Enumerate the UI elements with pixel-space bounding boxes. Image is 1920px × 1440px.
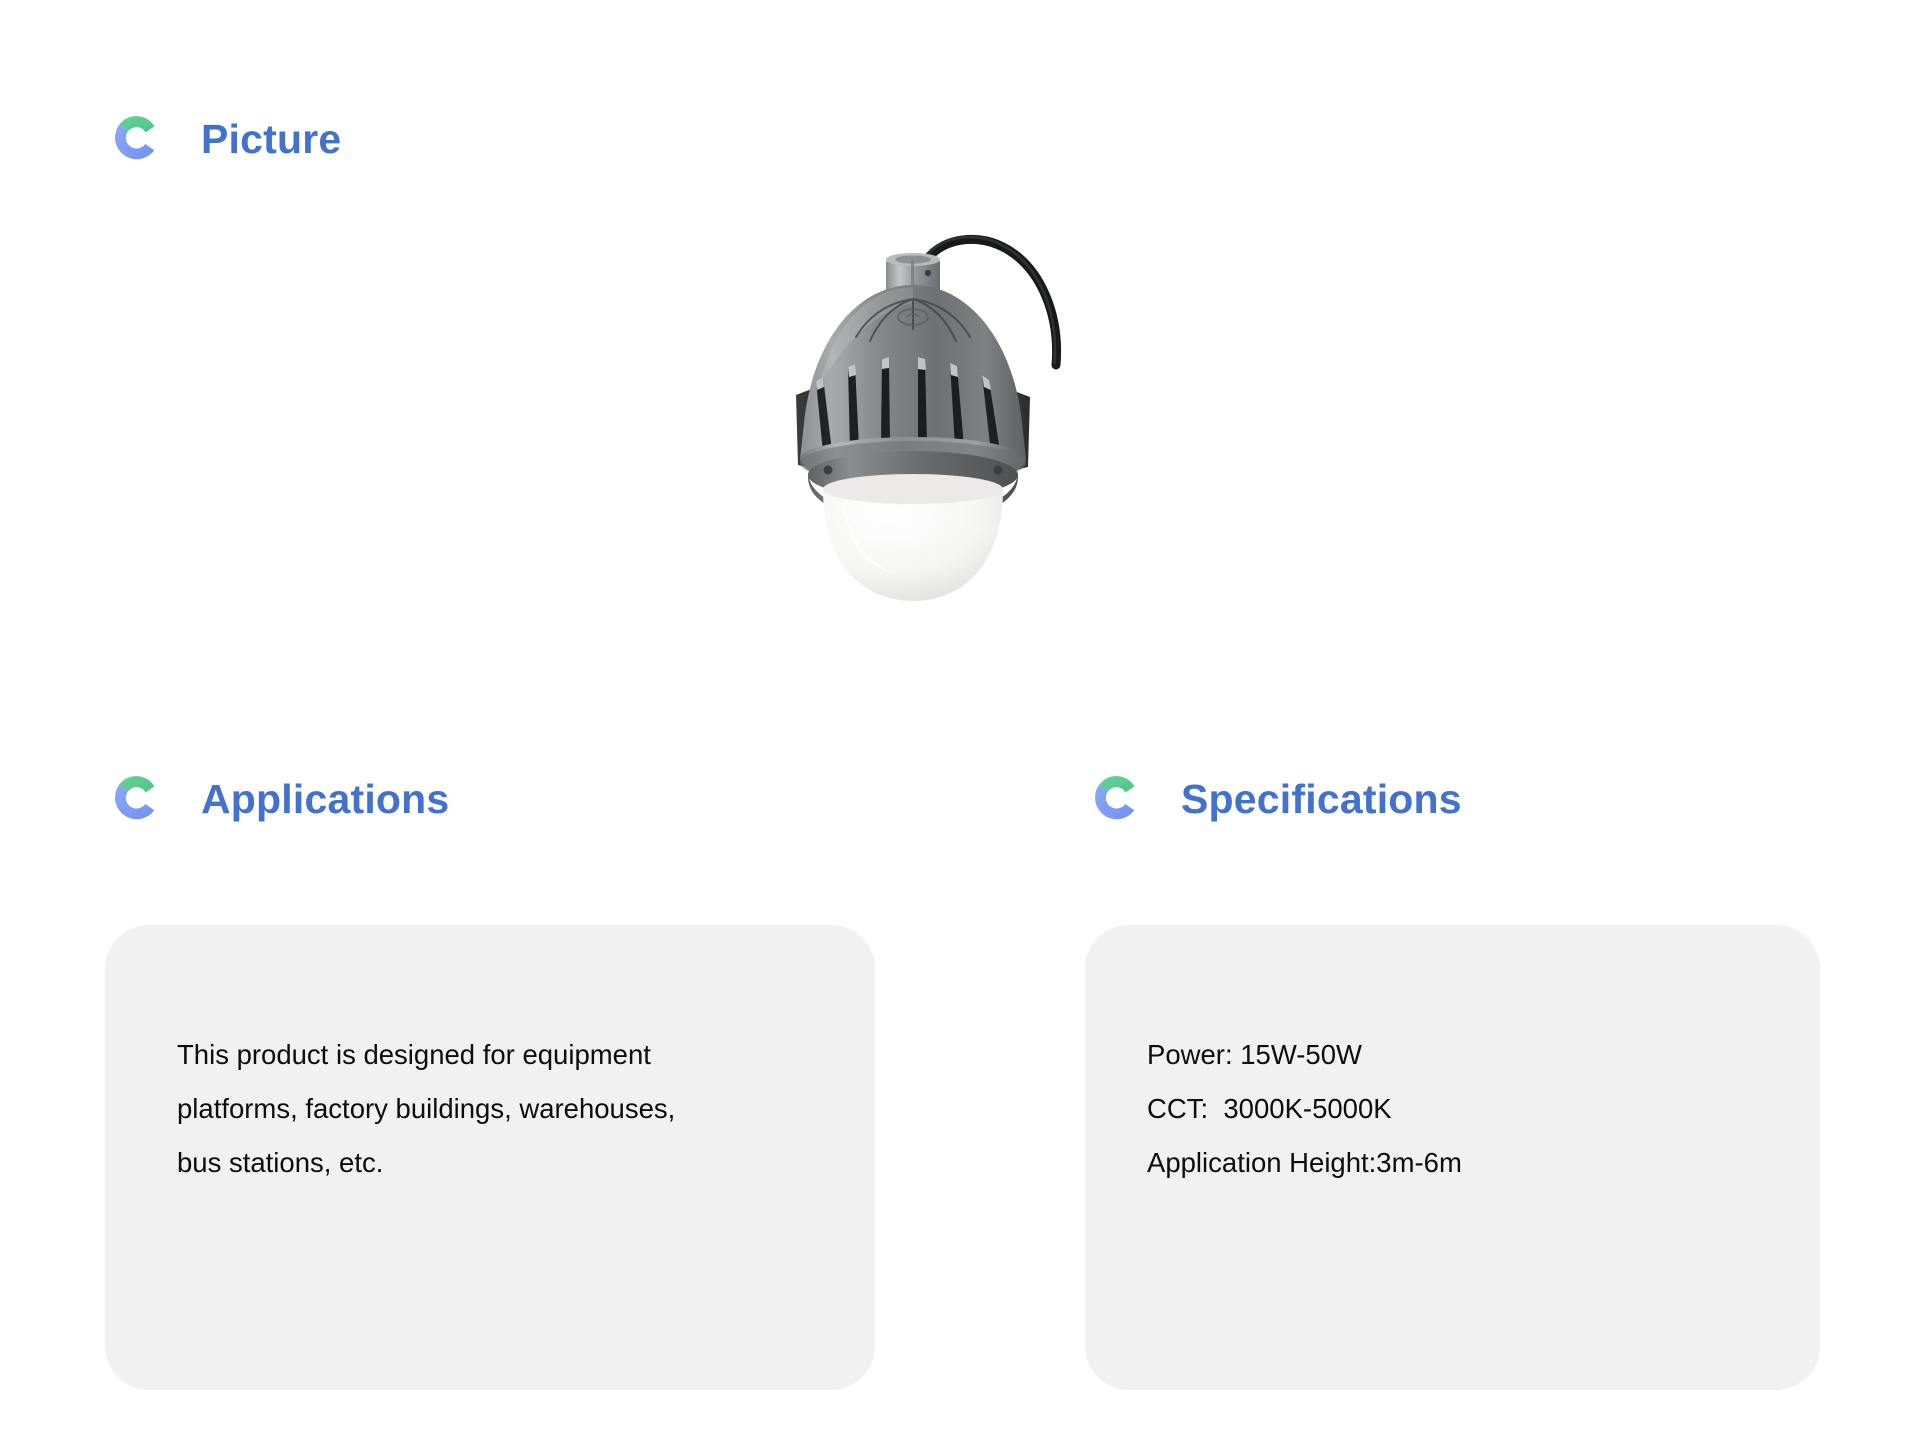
section-title-specifications: Specifications xyxy=(1181,779,1462,820)
spec-line-power: Power: 15W-50W xyxy=(1147,1028,1780,1082)
spec-line-cct: CCT: 3000K-5000K xyxy=(1147,1082,1780,1136)
spec-line-height: Application Height:3m-6m xyxy=(1147,1136,1780,1190)
applications-line: This product is designed for equipment xyxy=(177,1028,835,1082)
specifications-card: Power: 15W-50W CCT: 3000K-5000K Applicat… xyxy=(1085,925,1820,1390)
applications-text: This product is designed for equipment p… xyxy=(177,1028,835,1190)
applications-line: bus stations, etc. xyxy=(177,1136,835,1190)
section-header-specifications: Specifications xyxy=(1085,768,1462,830)
product-image xyxy=(760,225,1230,675)
c-logo-icon xyxy=(105,768,167,830)
specifications-text: Power: 15W-50W CCT: 3000K-5000K Applicat… xyxy=(1147,1028,1780,1190)
section-title-applications: Applications xyxy=(201,779,449,820)
applications-line: platforms, factory buildings, warehouses… xyxy=(177,1082,835,1136)
section-title-picture: Picture xyxy=(201,119,341,160)
product-datasheet-page: Picture xyxy=(0,0,1920,1440)
c-logo-icon xyxy=(1085,768,1147,830)
section-header-applications: Applications xyxy=(105,768,449,830)
applications-card: This product is designed for equipment p… xyxy=(105,925,875,1390)
c-logo-icon xyxy=(105,108,167,170)
section-header-picture: Picture xyxy=(105,108,341,170)
